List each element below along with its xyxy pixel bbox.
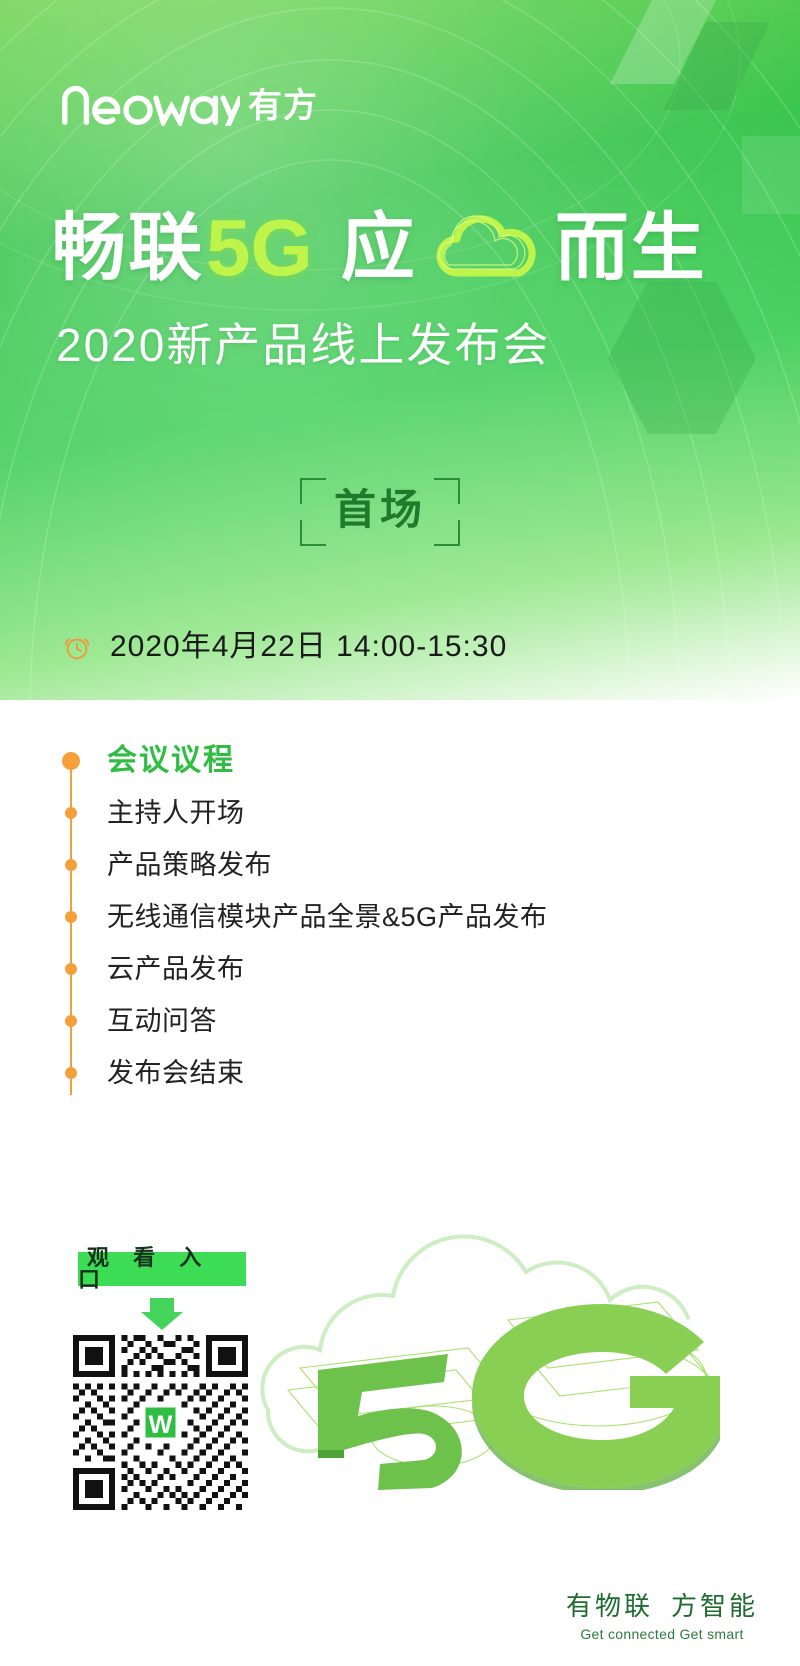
agenda-title-row: 会议议程 — [62, 735, 682, 787]
agenda-item-label: 无线通信模块产品全景&5G产品发布 — [107, 904, 548, 931]
agenda-title: 会议议程 — [107, 746, 235, 776]
agenda-item-label: 互动问答 — [107, 1008, 217, 1035]
qr-code-block[interactable]: W — [73, 1256, 248, 1515]
list-item: 互动问答 — [62, 995, 682, 1047]
list-item: 云产品发布 — [62, 943, 682, 995]
agenda-bullet — [62, 752, 80, 770]
qr-center-letter: W — [149, 1411, 173, 1439]
agenda-bullet — [65, 963, 77, 975]
tagline-en: Get connected Get smart — [566, 1625, 758, 1645]
agenda-bullet — [65, 911, 77, 923]
headline-part-1: 畅联 — [52, 211, 204, 285]
hero-subtitle: 2020新产品线上发布会 — [56, 322, 550, 368]
agenda-item-label: 发布会结束 — [107, 1060, 245, 1087]
headline-5g: 5G — [206, 208, 313, 288]
agenda-item-label: 主持人开场 — [107, 800, 245, 827]
list-item: 发布会结束 — [62, 1047, 682, 1099]
brand-logo-cn: 有方 — [248, 89, 318, 126]
tagline-cn: 有物联方智能 — [566, 1592, 758, 1622]
qr-code[interactable]: W — [73, 1335, 248, 1510]
first-session-badge: 首场 — [300, 478, 460, 546]
agenda-item-label: 产品策略发布 — [107, 852, 272, 879]
agenda-bullet — [65, 1067, 77, 1079]
headline-part-3: 而生 — [555, 211, 707, 285]
agenda-bullet — [65, 859, 77, 871]
hero-background: 有方 畅联 5G 应 而生 2020新产品线上发布会 — [0, 0, 800, 700]
brand-logo: 有方 — [60, 80, 318, 126]
agenda-section: 会议议程 主持人开场 产品策略发布 无线通信模块产品全景&5G产品发布 云产品发… — [62, 735, 682, 1099]
list-item: 主持人开场 — [62, 787, 682, 839]
agenda-item-label: 云产品发布 — [107, 956, 245, 983]
badge-label: 首场 — [300, 484, 460, 537]
agenda-bullet — [65, 1015, 77, 1027]
event-datetime: 2020年4月22日 14:00-15:30 — [110, 632, 507, 662]
event-datetime-row: 2020年4月22日 14:00-15:30 — [62, 632, 507, 662]
alarm-clock-icon — [62, 632, 92, 662]
footer-tagline: 有物联方智能 Get connected Get smart — [566, 1592, 758, 1644]
list-item: 产品策略发布 — [62, 839, 682, 891]
cloud-icon — [433, 215, 541, 281]
list-item: 无线通信模块产品全景&5G产品发布 — [62, 891, 682, 943]
neoway-wordmark-icon — [60, 80, 240, 126]
headline-part-2: 应 — [341, 211, 417, 285]
five-g-artwork — [258, 1200, 728, 1490]
hero-headline: 畅联 5G 应 而生 — [52, 208, 752, 288]
tagline-cn-2: 方智能 — [671, 1591, 758, 1621]
agenda-bullet — [65, 807, 77, 819]
tagline-cn-1: 有物联 — [566, 1591, 653, 1621]
poster-root: 有方 畅联 5G 应 而生 2020新产品线上发布会 — [0, 0, 800, 1666]
